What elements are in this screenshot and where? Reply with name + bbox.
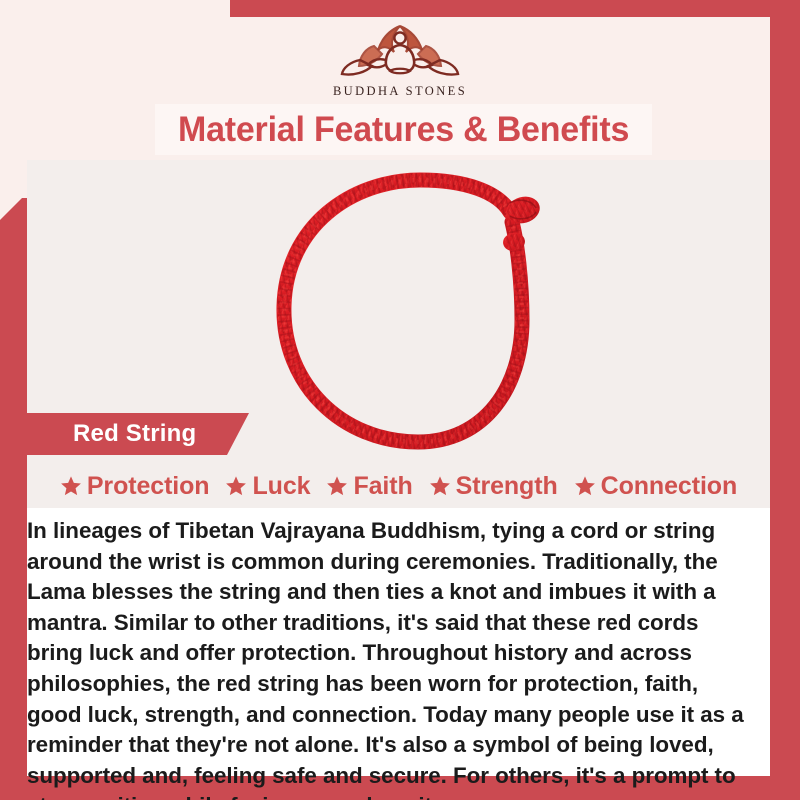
benefit-label: Luck [252, 472, 310, 501]
star-icon [326, 475, 348, 497]
brand-wordmark: BUDDHA STONES [0, 84, 800, 99]
benefit-label: Connection [601, 472, 738, 501]
benefit-label: Protection [87, 472, 210, 501]
product-feature-poster: BUDDHA STONES Material Features & Benefi… [0, 0, 800, 800]
benefit-label: Strength [456, 472, 558, 501]
star-icon [60, 475, 82, 497]
star-icon [225, 475, 247, 497]
benefit-item-strength: Strength [423, 472, 564, 501]
benefit-item-luck: Luck [219, 472, 316, 501]
star-icon [429, 475, 451, 497]
material-label-ribbon: Red String [27, 413, 249, 455]
product-image-area [27, 160, 770, 410]
right-red-strip [770, 0, 800, 800]
left-red-strip [0, 198, 27, 800]
benefit-item-protection: Protection [54, 472, 216, 501]
title-banner: Material Features & Benefits [155, 104, 652, 155]
brand-logo: BUDDHA STONES [0, 16, 800, 99]
description-text: In lineages of Tibetan Vajrayana Buddhis… [27, 508, 770, 800]
star-icon [574, 475, 596, 497]
material-label: Red String [73, 420, 196, 448]
red-braided-string-bracelet [270, 170, 570, 450]
lotus-meditation-figure-icon [330, 16, 470, 80]
benefit-label: Faith [353, 472, 412, 501]
benefit-item-connection: Connection [568, 472, 744, 501]
benefits-list: Protection Luck Faith Strength Connectio… [27, 464, 770, 508]
top-red-band [230, 0, 800, 17]
benefit-item-faith: Faith [320, 472, 418, 501]
description-block: In lineages of Tibetan Vajrayana Buddhis… [27, 508, 770, 776]
page-title: Material Features & Benefits [178, 110, 629, 150]
